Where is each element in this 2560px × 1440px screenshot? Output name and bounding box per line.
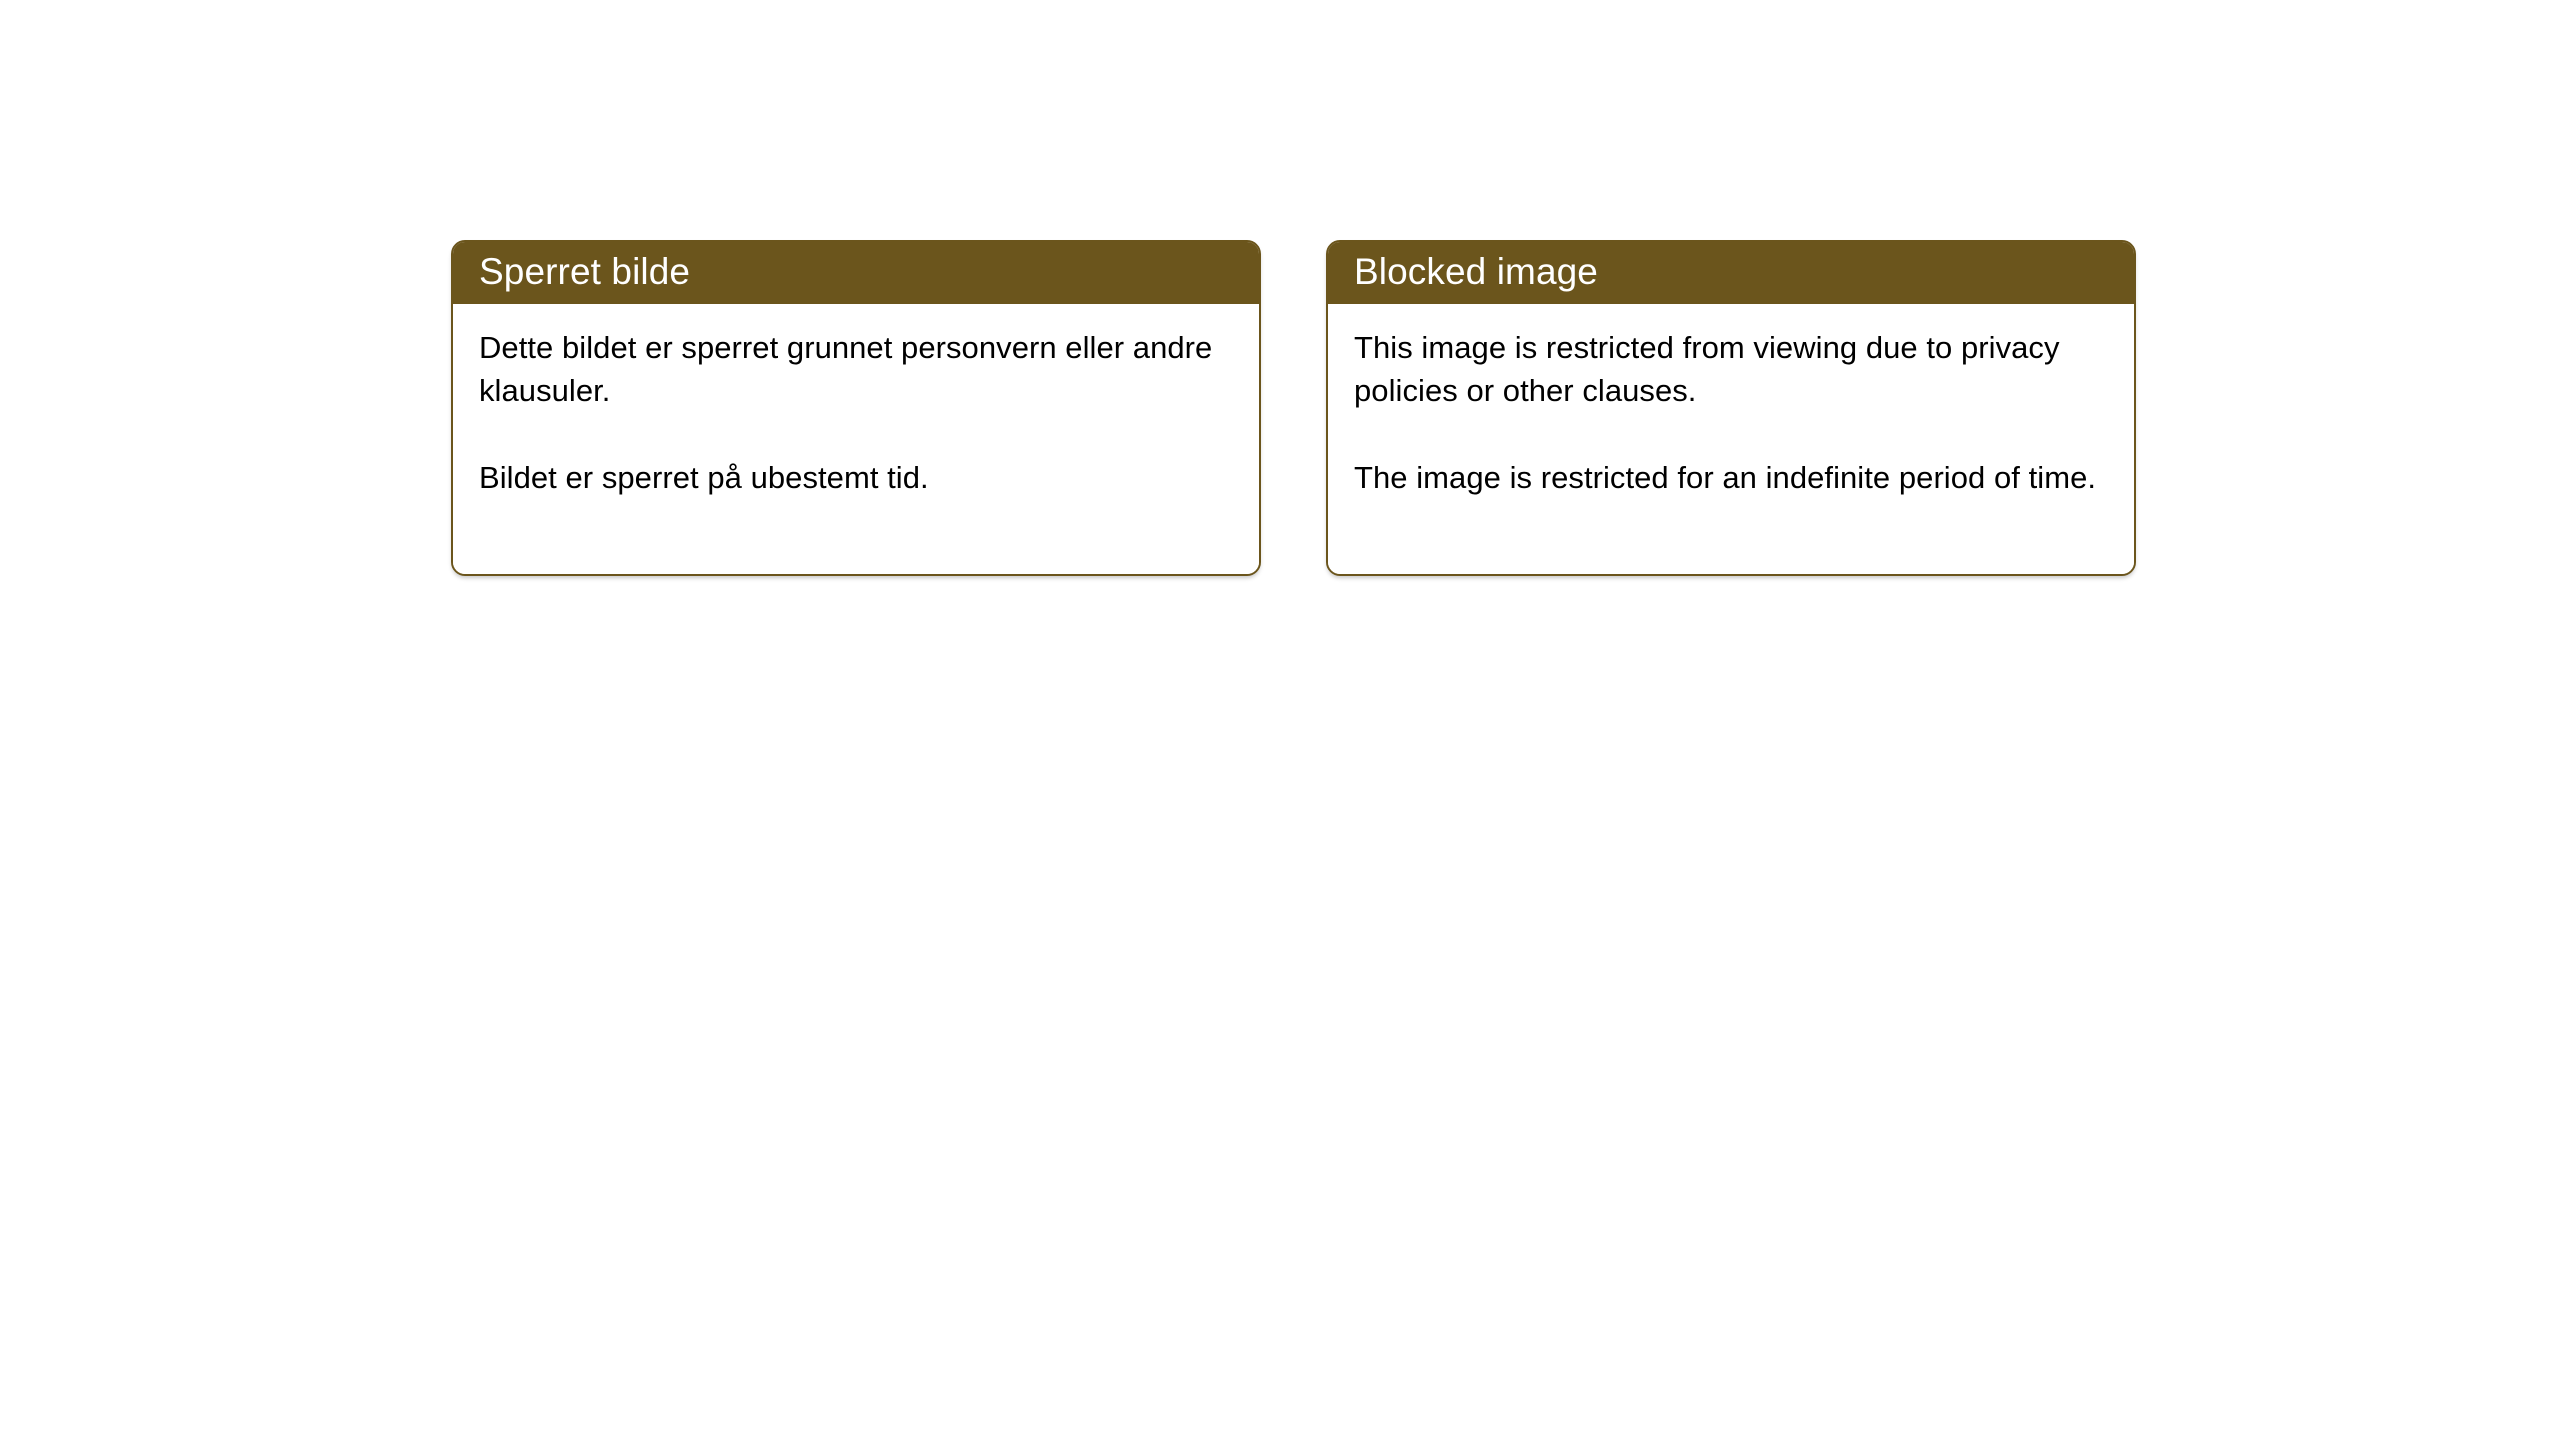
card-paragraph-reason-english: This image is restricted from viewing du…	[1354, 326, 2108, 412]
card-title-english: Blocked image	[1328, 242, 2134, 304]
card-paragraph-duration-norwegian: Bildet er sperret på ubestemt tid.	[479, 456, 1233, 499]
card-paragraph-reason-norwegian: Dette bildet er sperret grunnet personve…	[479, 326, 1233, 412]
blocked-image-notice-card-norwegian: Sperret bilde Dette bildet er sperret gr…	[451, 240, 1261, 576]
notice-cards-container: Sperret bilde Dette bildet er sperret gr…	[451, 240, 2136, 576]
card-title-norwegian: Sperret bilde	[453, 242, 1259, 304]
blocked-image-notice-card-english: Blocked image This image is restricted f…	[1326, 240, 2136, 576]
card-body-norwegian: Dette bildet er sperret grunnet personve…	[453, 304, 1259, 574]
card-paragraph-duration-english: The image is restricted for an indefinit…	[1354, 456, 2108, 499]
card-body-english: This image is restricted from viewing du…	[1328, 304, 2134, 574]
